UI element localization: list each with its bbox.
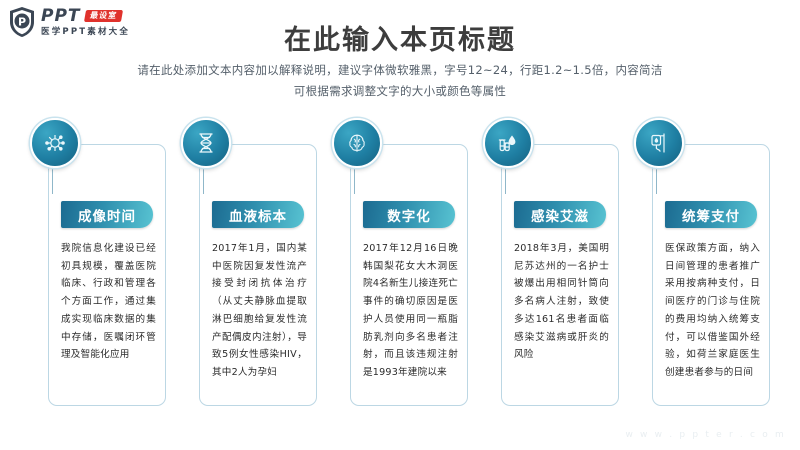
card-body-text: 2017年12月16日晚韩国梨花女大木洞医院4名新生儿接连死亡事件的确切原因是医… (363, 240, 458, 382)
card-body-text: 2018年3月，美国明尼苏达州的一名护士被爆出用相同针筒向多名病人注射，致使多达… (514, 240, 609, 364)
card-title-ribbon: 成像时间 (61, 201, 153, 228)
list-item[interactable]: 统筹支付 医保政策方面，纳入日间管理的患者推广采用按病种支付，日间医疗的门诊与住… (634, 118, 770, 418)
iv-drip-icon[interactable] (634, 118, 684, 168)
page-subtitle-line-1: 请在此处添加文本内容加以解释说明，建议字体微软雅黑，字号12~24，行距1.2~… (0, 62, 800, 78)
connector-line (656, 164, 657, 194)
page-subtitle-line-2: 可根据需求调整文字的大小或颜色等属性 (0, 83, 800, 99)
card-panel: 感染艾滋 2018年3月，美国明尼苏达州的一名护士被爆出用相同针筒向多名病人注射… (501, 144, 619, 406)
card-title-ribbon: 数字化 (363, 201, 455, 228)
card-body-text: 2017年1月，国内某中医院因复发性流产接受封闭抗体治疗（从丈夫静脉血提取淋巴细… (212, 240, 307, 382)
connector-line (52, 164, 53, 194)
brain-icon[interactable] (332, 118, 382, 168)
card-panel: 数字化 2017年12月16日晚韩国梨花女大木洞医院4名新生儿接连死亡事件的确切… (350, 144, 468, 406)
connector-line (203, 164, 204, 194)
list-item[interactable]: 血液标本 2017年1月，国内某中医院因复发性流产接受封闭抗体治疗（从丈夫静脉血… (181, 118, 317, 418)
card-body-text: 医保政策方面，纳入日间管理的患者推广采用按病种支付，日间医疗的门诊与住院的费用均… (665, 240, 760, 382)
list-item[interactable]: 数字化 2017年12月16日晚韩国梨花女大木洞医院4名新生儿接连死亡事件的确切… (332, 118, 468, 418)
dna-helix-icon[interactable] (181, 118, 231, 168)
card-body-text: 我院信息化建设已经初具规模，覆盖医院临床、行政和管理各个方面工作，通过集成实现临… (61, 240, 156, 364)
card-title-ribbon: 感染艾滋 (514, 201, 606, 228)
card-list: 成像时间 我院信息化建设已经初具规模，覆盖医院临床、行政和管理各个方面工作，通过… (30, 118, 770, 418)
site-watermark: w w w . p p t e r . c o m (625, 430, 786, 440)
list-item[interactable]: 感染艾滋 2018年3月，美国明尼苏达州的一名护士被爆出用相同针筒向多名病人注射… (483, 118, 619, 418)
page-title: 在此输入本页标题 (0, 18, 800, 57)
card-title-ribbon: 统筹支付 (665, 201, 757, 228)
card-panel: 血液标本 2017年1月，国内某中医院因复发性流产接受封闭抗体治疗（从丈夫静脉血… (199, 144, 317, 406)
virus-cell-icon[interactable] (30, 118, 80, 168)
list-item[interactable]: 成像时间 我院信息化建设已经初具规模，覆盖医院临床、行政和管理各个方面工作，通过… (30, 118, 166, 418)
card-panel: 成像时间 我院信息化建设已经初具规模，覆盖医院临床、行政和管理各个方面工作，通过… (48, 144, 166, 406)
card-panel: 统筹支付 医保政策方面，纳入日间管理的患者推广采用按病种支付，日间医疗的门诊与住… (652, 144, 770, 406)
card-title-ribbon: 血液标本 (212, 201, 304, 228)
blood-sample-icon[interactable] (483, 118, 533, 168)
connector-line (505, 164, 506, 194)
connector-line (354, 164, 355, 194)
